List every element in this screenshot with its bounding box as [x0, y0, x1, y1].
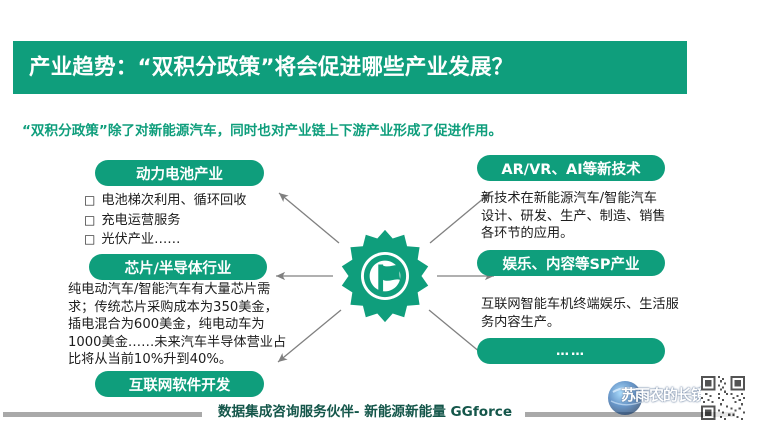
list-item-label: 电池梯次利用、循环回收	[101, 192, 246, 211]
slide-canvas: 产业趋势：“双积分政策”将会促进哪些产业发展？ “双积分政策”除了对新能源汽车，…	[0, 0, 769, 431]
battery-bullet-list: □ 电池梯次利用、循环回收 □ 充电运营服务 □ 光伏产业……	[84, 191, 314, 250]
sp-industry-description: 互联网智能车机终端娱乐、生活服务内容生产。	[481, 296, 681, 331]
gear-logo-icon	[337, 228, 433, 324]
pill-battery-industry[interactable]: 动力电池产业	[95, 160, 264, 186]
square-bullet-icon: □	[84, 211, 95, 230]
footer-rule-left	[3, 412, 202, 417]
square-bullet-icon: □	[84, 230, 95, 249]
qr-code-icon	[701, 376, 745, 420]
page-title: 产业趋势：“双积分政策”将会促进哪些产业发展？	[29, 52, 689, 84]
list-item-label: 充电运营服务	[101, 212, 180, 231]
square-bullet-icon: □	[84, 191, 95, 210]
list-item: □ 光伏产业……	[84, 230, 314, 250]
chip-industry-description: 纯电动汽车/智能汽车有大量芯片需求；传统芯片采购成本为350美金，插电混合为60…	[68, 281, 288, 369]
footer-tagline: 数据集成咨询服务伙伴- 新能源新能量 GGforce	[206, 400, 524, 420]
watermark: 苏雨农的长镜头	[603, 374, 763, 424]
pill-more-ellipsis[interactable]: ……	[477, 338, 665, 364]
pill-chip-semiconductor-industry[interactable]: 芯片/半导体行业	[89, 254, 267, 280]
list-item: □ 充电运营服务	[84, 211, 314, 231]
pill-arvr-ai-new-tech[interactable]: AR/VR、AI等新技术	[477, 155, 665, 181]
arvr-description: 新技术在新能源汽车/智能汽车设计、研发、生产、制造、销售各环节的应用。	[481, 190, 666, 243]
pill-entertainment-sp-industry[interactable]: 娱乐、内容等SP产业	[477, 250, 665, 276]
list-item: □ 电池梯次利用、循环回收	[84, 191, 314, 211]
subtitle-text: “双积分政策”除了对新能源汽车，同时也对产业链上下游产业形成了促进作用。	[22, 119, 752, 139]
list-item-label: 光伏产业……	[101, 231, 180, 250]
pill-internet-software-development[interactable]: 互联网软件开发	[95, 371, 264, 397]
